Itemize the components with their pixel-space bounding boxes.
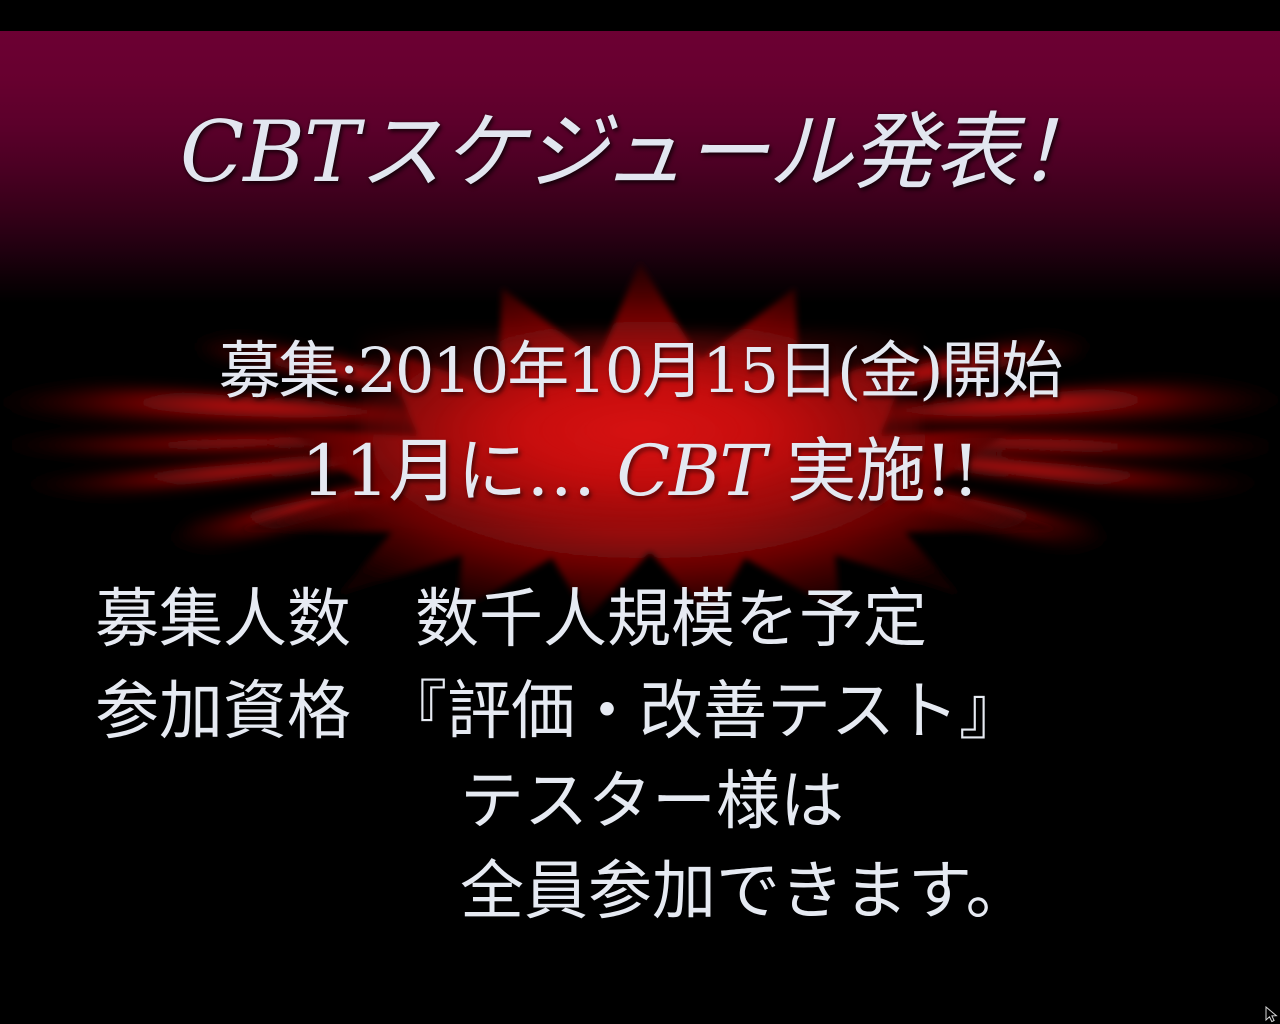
slide-canvas: CBTスケジュール発表！ 募集:2010年10月15日(金)開始 11月に… C… [0,0,1280,1024]
detail-line-eligibility: 参加資格 『評価・改善テスト』 [0,680,1280,744]
announcement-cbt-emphasis: CBT [617,430,766,512]
announcement-date-line: 募集:2010年10月15日(金)開始 [0,338,1280,403]
details-block: 募集人数 数千人規模を予定 参加資格 『評価・改善テスト』 テスター様は 全員参… [0,580,1280,924]
announcement-cbt-line: 11月に… CBT 実施!! [0,435,1280,509]
detail-line-tester: テスター様は [0,770,1280,834]
announcement-cbt-prefix: 11月に… [301,430,616,512]
page-title: CBTスケジュール発表！ [0,108,1280,197]
top-black-bar [0,0,1280,31]
detail-line-all-can-join: 全員参加できます。 [0,860,1280,924]
detail-line-recruit-count: 募集人数 数千人規模を予定 [0,588,1280,652]
announcement-cbt-suffix: 実施!! [765,430,979,512]
mouse-cursor-icon [1264,1006,1280,1024]
